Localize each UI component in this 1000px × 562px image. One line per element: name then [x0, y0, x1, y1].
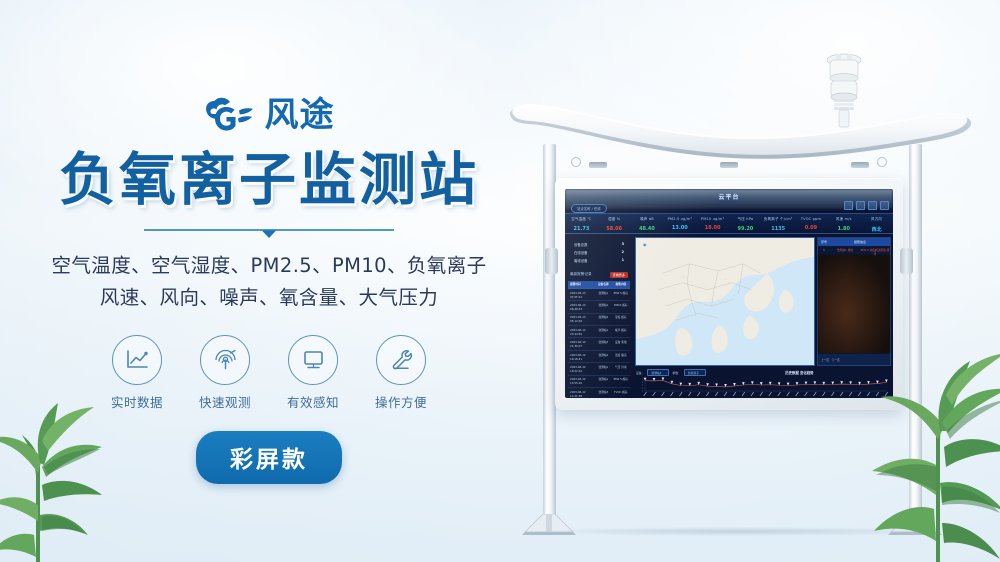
page-title: 负氧离子监测站: [34, 150, 504, 212]
cell-device: 监测站3: [595, 390, 612, 398]
svg-text:·: ·: [725, 277, 726, 281]
brand-name: 风途: [265, 98, 335, 132]
hanger-clip-center: [720, 162, 738, 168]
cell-time: 2023-06-12 21:30:07: [568, 340, 595, 348]
wrench-icon: [388, 347, 415, 373]
cell-time: 2023-06-12 19:18:21: [568, 353, 595, 361]
left-panel: 设备总数3 在线设备2 离线设备1 最新报警记录 查看更多 报警时间 设备名称: [565, 235, 633, 368]
cell-content: 湿度 超标: [612, 315, 630, 323]
hanger-ring-left: [571, 157, 581, 167]
alarm-table: 报警时间 设备名称 报警内容 2023-06-13 07:05:12监测站1PM…: [568, 281, 630, 398]
hanger-ring-right: [877, 157, 887, 167]
kpi-name: PM10 ug/m³: [696, 217, 729, 221]
chart-select-1-label: 设备：: [636, 371, 644, 375]
cell-content: PM2.5 超标: [612, 291, 630, 299]
table-row[interactable]: 2023-06-13 06:48:33监测站1PM10 超标: [568, 301, 630, 313]
svg-text:·: ·: [683, 275, 684, 279]
kpi-value: 1.80: [827, 226, 860, 232]
cell-content: 设备 离线: [612, 340, 630, 348]
map-panel[interactable]: ·· ·· ·· ◉: [635, 237, 815, 366]
kpi-value: 13.00: [663, 225, 696, 231]
kpi-value: 西北: [860, 226, 893, 233]
chart-param-select[interactable]: 负氧离子: [684, 369, 706, 376]
kpi-name: 风方向: [860, 217, 893, 222]
cell-time: 2023-06-12 23:44:50: [568, 328, 595, 336]
cell-content: PM2.5 超标: [612, 377, 630, 385]
kpi-name: 负氧离子 个/cm³: [762, 217, 795, 222]
kpi-name: 湿度 %: [598, 217, 631, 222]
kpi-value: 0.09: [795, 225, 828, 231]
table-row[interactable]: 2023-06-13 05:12:09监测站2湿度 超标: [568, 314, 630, 326]
hanger-clip-right: [851, 162, 869, 168]
toolbar-icon-3[interactable]: [868, 201, 877, 210]
stat-row: 设备总数3: [572, 240, 626, 248]
alarm-more-button[interactable]: 查看更多: [610, 272, 628, 278]
cell-device: 监测站3: [595, 340, 612, 348]
table-row[interactable]: 2023-06-12 21:30:07监测站3设备 离线: [568, 338, 630, 350]
promo-banner: 风途 负氧离子监测站 空气温度、空气湿度、PM2.5、PM10、负氧离子 风速、…: [0, 0, 1000, 562]
kpi-value: 99.20: [729, 226, 762, 232]
hanger-clip-left: [589, 162, 607, 168]
table-row[interactable]: 2023-06-12 19:18:21监测站2温度 偏高: [568, 351, 630, 363]
stat-value: 2: [622, 250, 624, 255]
kpi-name: 风速 m/s: [827, 217, 860, 222]
cell-time: 2023-06-13 05:12:09: [568, 315, 595, 323]
stat-row: 在线设备2: [572, 248, 626, 256]
svg-text:·: ·: [674, 291, 675, 295]
cell-device: 监测站2: [595, 353, 612, 361]
cell-time: 2023-06-12 16:02:44: [568, 365, 595, 373]
cell-content: 气压 异常: [612, 365, 630, 373]
mount-bracket-left: [545, 248, 558, 274]
cell-device: 监测站1: [595, 303, 612, 311]
feature-item-fast-observation[interactable]: 快速观测: [194, 335, 256, 411]
kpi-strip: 空气温度 ℃21.73 湿度 %58.06 噪声 dB48.40 PM2.5 u…: [565, 213, 893, 234]
kpi-cell: 风速 m/s1.80: [827, 214, 860, 233]
cell-time: 2023-06-12 13:55:16: [568, 377, 595, 385]
stat-value: 1: [622, 258, 624, 263]
cell-content: 温度 偏高: [612, 353, 630, 361]
col-device: 设备名称: [595, 282, 612, 286]
feature-label-4: 操作方便: [370, 392, 432, 411]
cell-device: 监测站2: [595, 315, 612, 323]
foliage-right: [810, 327, 1000, 562]
china-map[interactable]: ·· ·· ·· ◉: [635, 237, 815, 366]
kpi-cell: 噪声 dB48.40: [631, 214, 664, 233]
kpi-value: 18.00: [696, 225, 729, 231]
table-row[interactable]: 2023-06-12 16:02:44监测站1气压 异常: [568, 363, 630, 375]
cell-device: 监测站1: [595, 377, 612, 385]
feature-item-easy-operation[interactable]: 操作方便: [370, 335, 432, 411]
toolbar-icon-2[interactable]: [856, 201, 865, 210]
kpi-name: TVOC ppm: [795, 217, 828, 221]
mount-bracket-right: [900, 248, 913, 274]
feature-circle-3: [288, 335, 338, 385]
kpi-cell: PM2.5 ug/m³13.00: [663, 214, 696, 233]
toolbar-icon-1[interactable]: [844, 201, 853, 210]
subtitle-line-1: 空气温度、空气湿度、PM2.5、PM10、负氧离子: [34, 251, 504, 281]
table-row[interactable]: 2023-06-12 11:21:38监测站3TVOC 超标: [568, 388, 630, 398]
subtitle-line-2: 风速、风向、噪声、氧含量、大气压力: [34, 283, 504, 313]
cell-device: 监测站1: [595, 365, 612, 373]
kpi-cell: 负氧离子 个/cm³1135: [762, 214, 795, 233]
rp-col-info: 报警信息: [830, 240, 890, 244]
station-selector-tag[interactable]: 站点名称 / 在线: [571, 204, 607, 213]
alarm-panel-title: 最新报警记录: [570, 272, 592, 277]
cell-content: PM10 超标: [612, 303, 630, 311]
stat-value: 3: [622, 242, 624, 247]
kpi-value: 1135: [762, 226, 795, 232]
right-panel-header: 序号 报警信息: [818, 238, 890, 246]
chart-select-2-label: 参数：: [672, 371, 680, 375]
stat-label: 设备总数: [574, 242, 588, 247]
svg-text:·: ·: [734, 294, 735, 298]
kpi-cell: PM10 ug/m³18.00: [696, 214, 729, 233]
stat-row: 离线设备1: [572, 256, 626, 264]
kpi-name: 噪声 dB: [631, 217, 664, 222]
dashboard-title: 云平台: [565, 192, 893, 201]
rp-col-index: 序号: [818, 240, 830, 244]
kpi-name: 气压 hPa: [729, 217, 762, 222]
table-header-row: 报警时间 设备名称 报警内容: [568, 281, 630, 289]
cell-time: 2023-06-13 07:05:12: [568, 291, 595, 299]
kpi-value: 58.06: [598, 226, 631, 232]
svg-text:·: ·: [705, 284, 706, 288]
kpi-cell: 空气温度 ℃21.73: [565, 214, 598, 233]
stat-label: 离线设备: [574, 258, 588, 263]
toolbar-icon-4[interactable]: [880, 201, 889, 210]
cell-device: 监测站1: [595, 328, 612, 336]
map-location-pin-icon[interactable]: ◉: [643, 242, 647, 247]
cell-content: 噪声 超标: [612, 328, 630, 336]
feature-item-effective-sensing[interactable]: 有效感知: [282, 335, 344, 411]
gf-cloud-leaf-logo-icon: [204, 95, 256, 135]
feature-label-2: 快速观测: [194, 392, 256, 411]
col-content: 报警内容: [612, 282, 630, 286]
radar-scan-icon: [212, 347, 239, 373]
table-row[interactable]: 2023-06-12 23:44:50监测站1噪声 超标: [568, 326, 630, 338]
table-row[interactable]: 2023-06-12 13:55:16监测站1PM2.5 超标: [568, 376, 630, 388]
kpi-cell: 风方向西北: [860, 214, 893, 233]
brand-logo: 风途: [34, 92, 504, 138]
map-landmass: ·· ·· ··: [636, 238, 814, 365]
col-time: 报警时间: [568, 282, 595, 286]
kpi-cell: TVOC ppm0.09: [795, 214, 828, 233]
alarm-panel-header: 最新报警记录 查看更多: [568, 271, 630, 279]
title-divider: [144, 226, 394, 240]
device-stats: 设备总数3 在线设备2 离线设备1: [568, 238, 630, 268]
kpi-value: 48.40: [631, 226, 664, 232]
chart-device-select[interactable]: 监测站1: [647, 369, 669, 376]
kpi-name: PM2.5 ug/m³: [663, 217, 696, 221]
feature-label-3: 有效感知: [282, 392, 344, 411]
foliage-left: [0, 355, 194, 562]
cell-content: TVOC 超标: [612, 390, 630, 398]
feature-circle-4: [376, 335, 426, 385]
cell-time: 2023-06-13 06:48:33: [568, 303, 595, 311]
kpi-value: 21.73: [565, 226, 598, 232]
color-screen-model-button[interactable]: 彩屏款: [196, 431, 342, 484]
stat-label: 在线设备: [574, 250, 588, 255]
monitor-screen-icon: [300, 348, 327, 372]
dashboard-toolbar[interactable]: [844, 201, 889, 210]
kpi-name: 空气温度 ℃: [565, 217, 598, 222]
kpi-cell: 湿度 %58.06: [598, 214, 631, 233]
kpi-cell: 气压 hPa99.20: [729, 214, 762, 233]
cell-time: 2023-06-12 11:21:38: [568, 390, 595, 398]
feature-circle-2: [200, 335, 250, 385]
cell-device: 监测站1: [595, 291, 612, 299]
table-row[interactable]: 2023-06-13 07:05:12监测站1PM2.5 超标: [568, 289, 630, 301]
svg-text:·: ·: [698, 301, 699, 305]
